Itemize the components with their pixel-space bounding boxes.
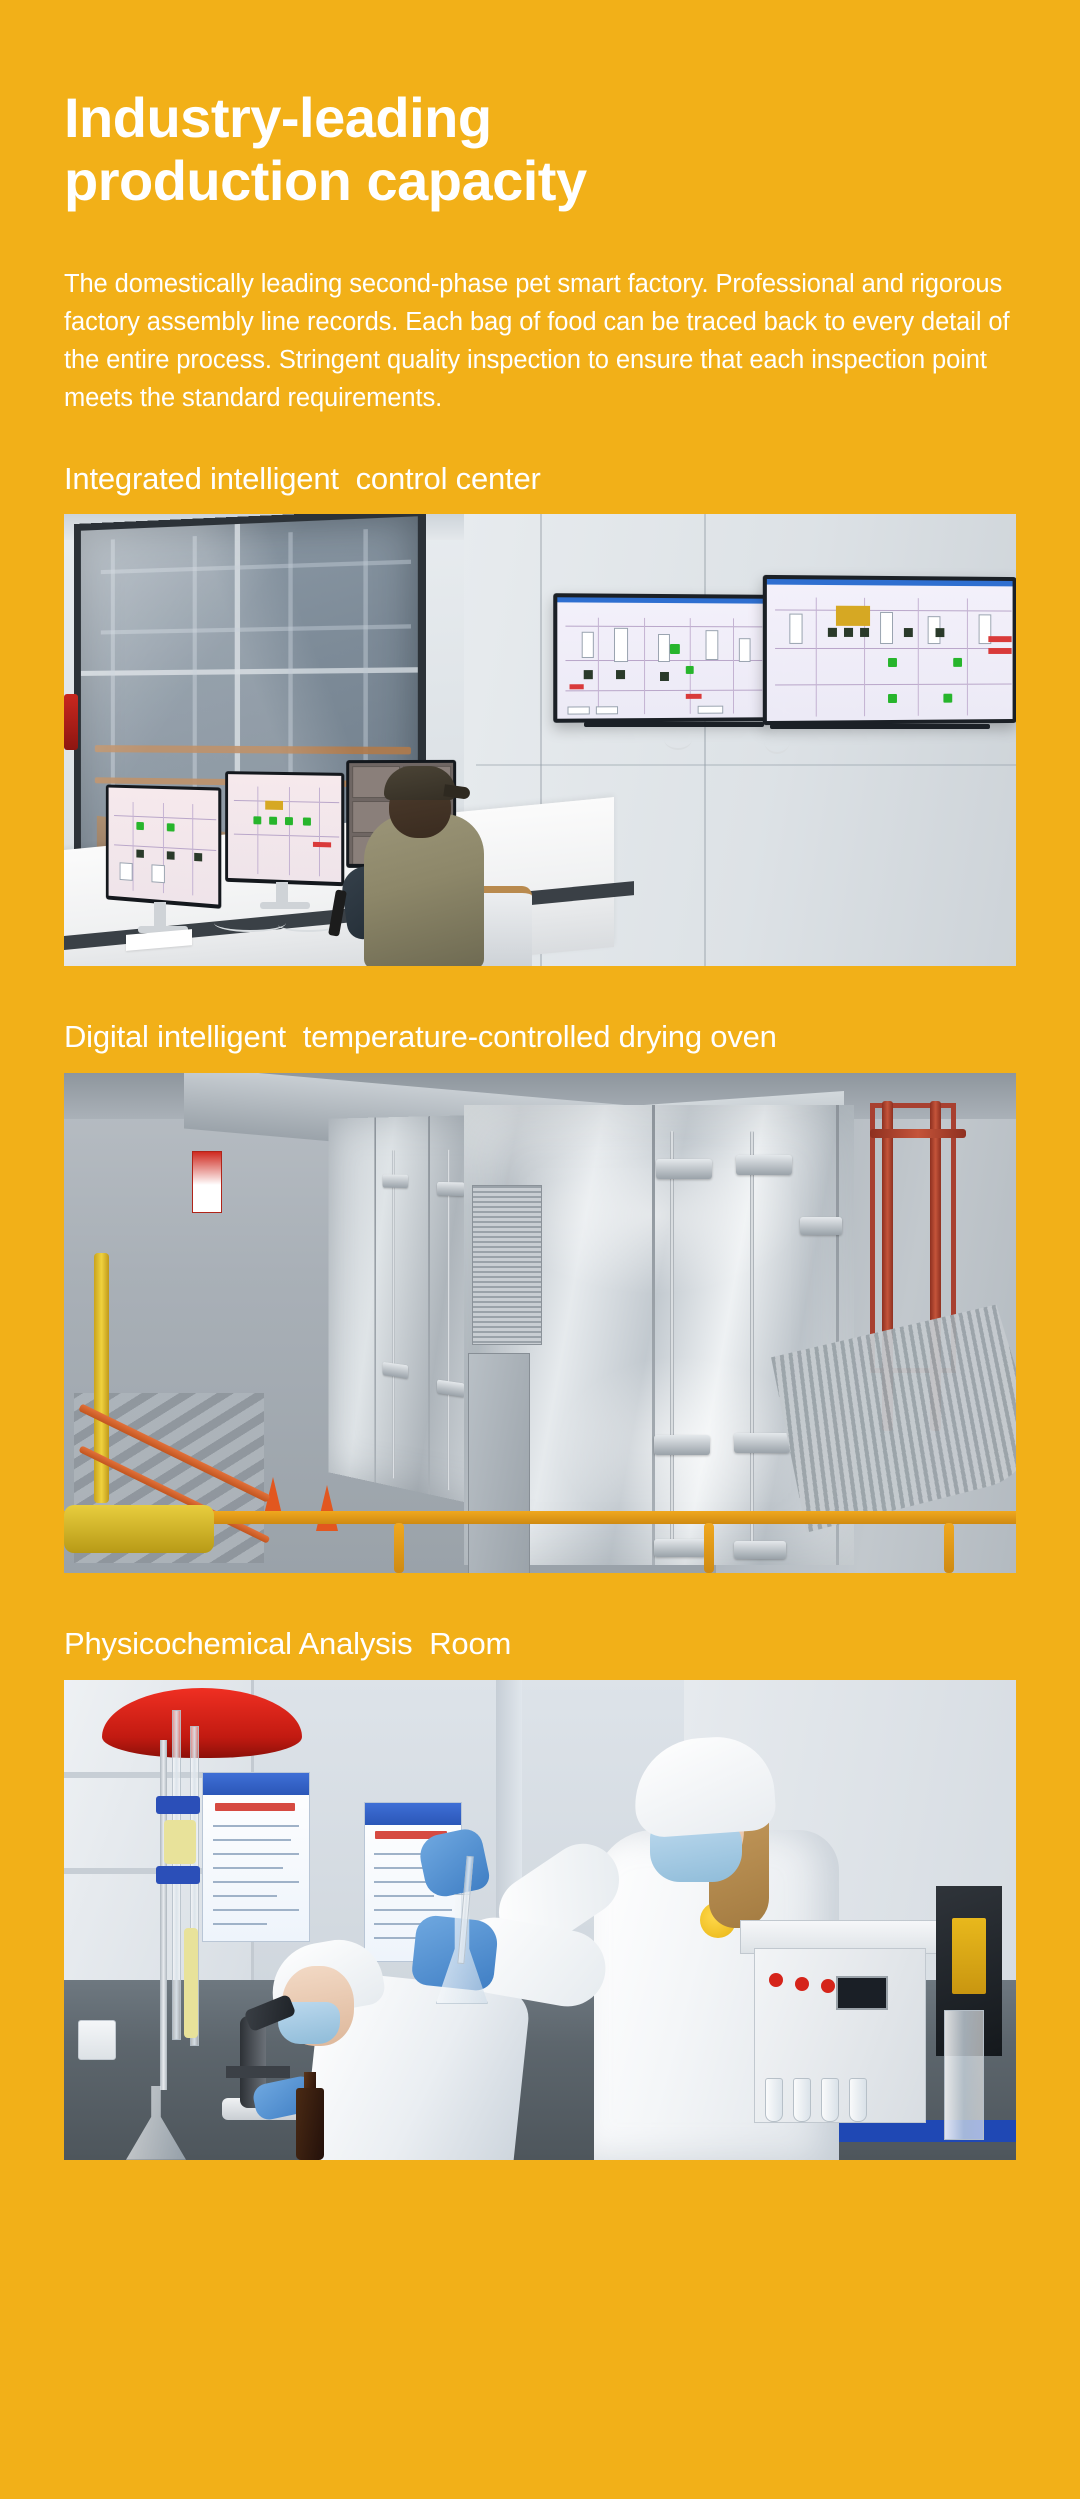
yellow-process-pipe — [64, 1505, 214, 1553]
safety-cone — [316, 1485, 338, 1531]
reagent-bottle — [296, 2088, 324, 2160]
oven-vent-grille — [472, 1185, 542, 1345]
promotional-page: Industry-leading production capacity The… — [0, 86, 1080, 2499]
photo-analysis-room — [64, 1680, 1016, 2160]
section-control-center: Integrated intelligent control center — [64, 460, 1016, 967]
wall-screen-left — [553, 593, 767, 723]
intro-paragraph: The domestically leading second-phase pe… — [64, 265, 1016, 418]
section-drying-oven: Digital intelligent temperature-controll… — [64, 1018, 1016, 1573]
fat-analyzer — [754, 1948, 926, 2123]
analyzer-display — [836, 1976, 888, 2010]
photo-control-center — [64, 514, 1016, 966]
section-title-analysis-room: Physicochemical Analysis Room — [64, 1625, 1016, 1664]
fire-extinguisher — [64, 694, 78, 750]
burette-clamp — [156, 1796, 200, 1814]
red-pipe — [870, 1129, 966, 1138]
glass-column — [944, 2010, 984, 2140]
section-analysis-room: Physicochemical Analysis Room — [64, 1625, 1016, 2160]
handrail-post — [944, 1523, 954, 1573]
clamp-holder — [164, 1820, 196, 1864]
fire-alarm-box — [192, 1151, 222, 1213]
instrument-label — [952, 1918, 986, 1994]
photo-drying-oven — [64, 1073, 1016, 1573]
handrail-post — [704, 1523, 714, 1573]
microscope-stage — [226, 2066, 290, 2078]
burette-clamp — [156, 1866, 200, 1884]
monitor-center — [225, 771, 344, 886]
monitor-left — [106, 785, 221, 909]
wall-trim — [476, 764, 1016, 766]
page-title: Industry-leading production capacity — [64, 86, 1016, 213]
wall-screen-right — [763, 575, 1016, 725]
section-title-drying-oven: Digital intelligent temperature-controll… — [64, 1018, 1016, 1057]
retort-stand-rod — [160, 1740, 167, 2090]
reagent-column — [184, 1928, 198, 2038]
section-title-control-center: Integrated intelligent control center — [64, 460, 1016, 499]
wall-socket — [78, 2020, 116, 2060]
wall-poster-left — [202, 1772, 310, 1942]
handrail-post — [394, 1523, 404, 1573]
wall-seam — [704, 514, 706, 966]
oven-control-panel-door — [468, 1353, 530, 1573]
